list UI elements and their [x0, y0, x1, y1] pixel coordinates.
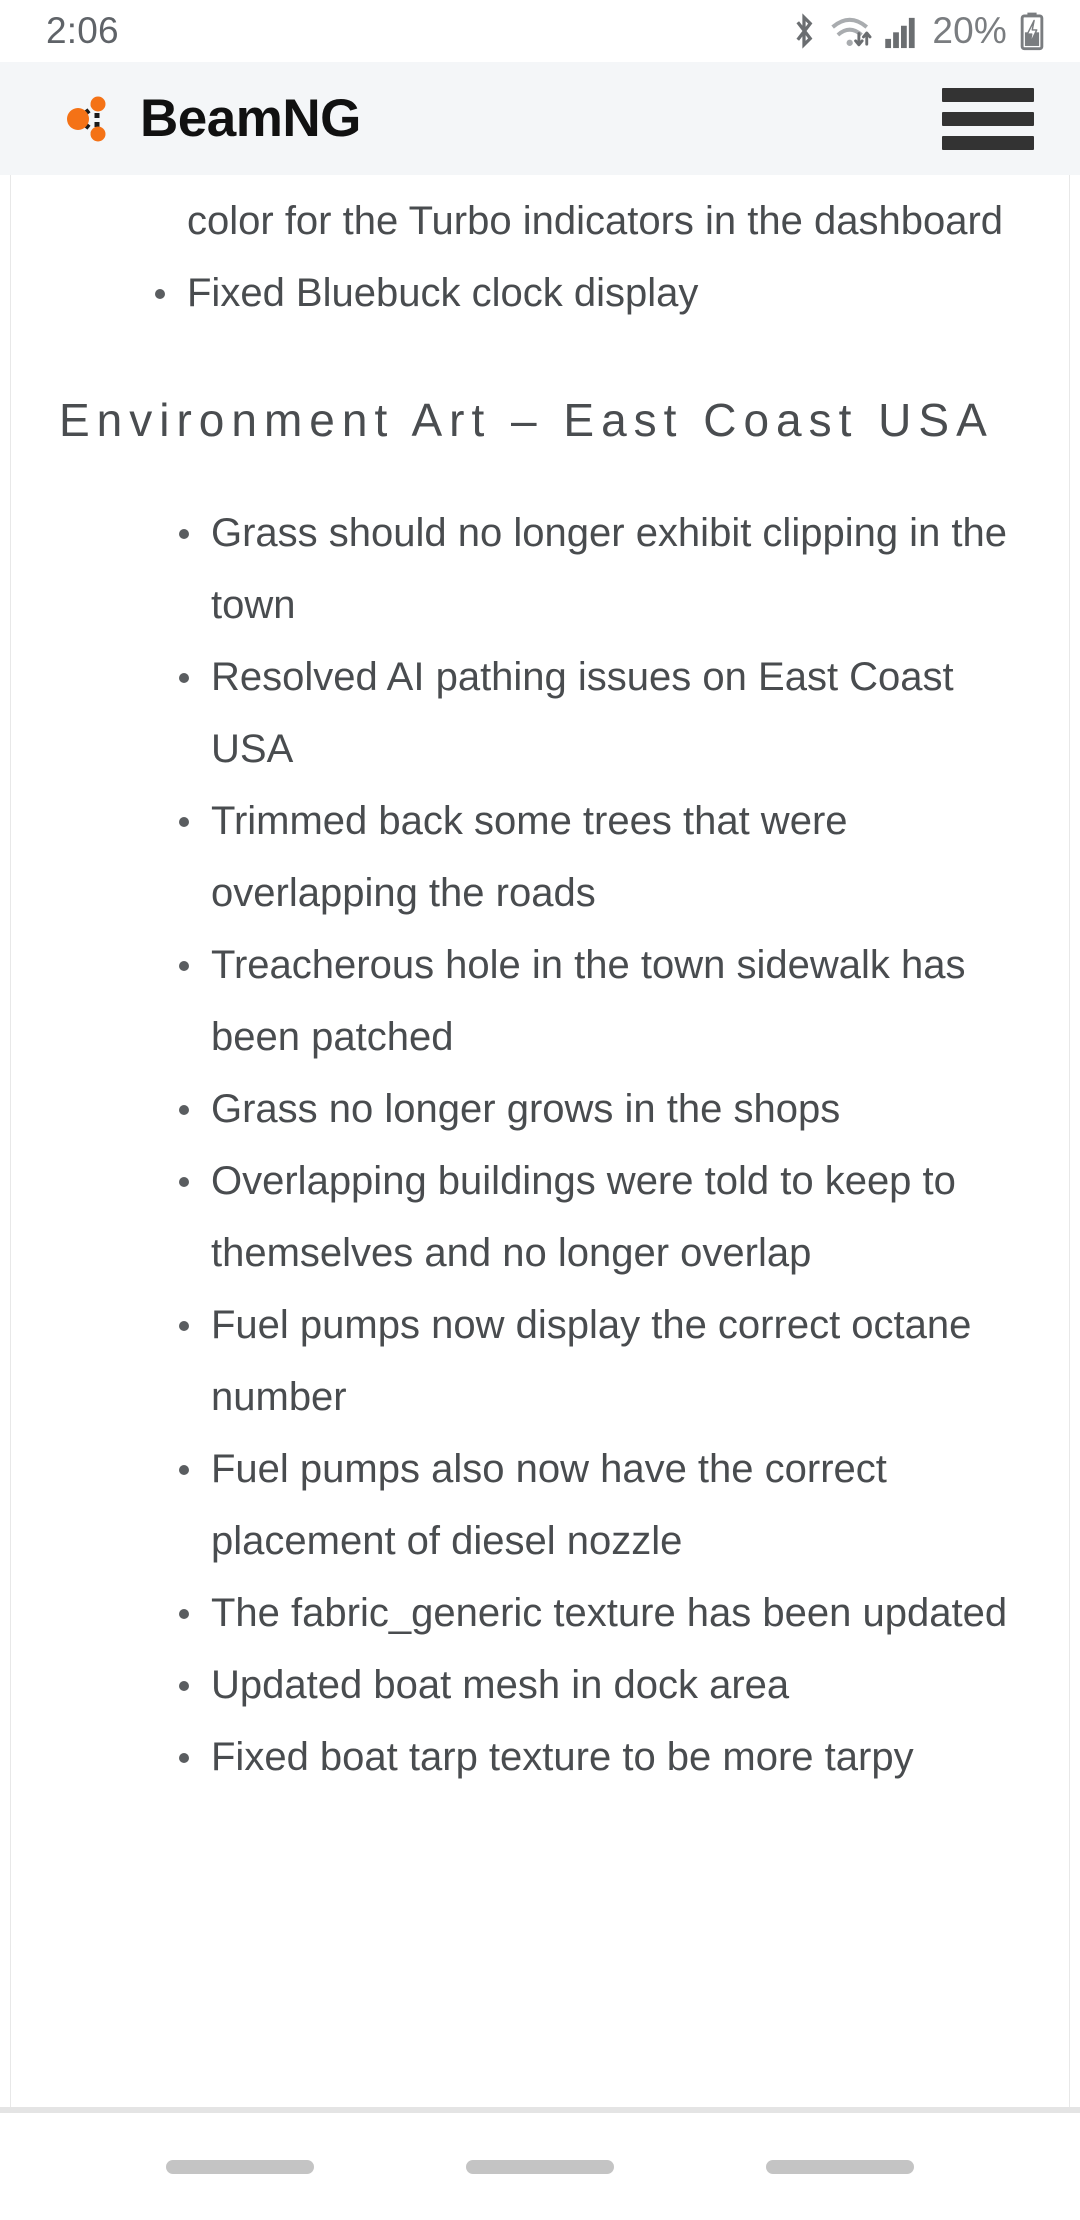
- list-item: Trimmed back some trees that were overla…: [171, 785, 1021, 929]
- battery-percent-label: 20%: [932, 10, 1007, 52]
- list-item: Grass should no longer exhibit clipping …: [171, 497, 1021, 641]
- list-item: Fuel pumps also now have the correct pla…: [171, 1433, 1021, 1577]
- status-bar-clock: 2:06: [46, 10, 119, 52]
- hamburger-bar-2: [942, 112, 1034, 126]
- back-gesture-pill[interactable]: [766, 2160, 914, 2174]
- beamng-node-logo-icon: [64, 90, 122, 148]
- cellular-signal-icon: [883, 10, 919, 52]
- article-card: Fixed ETK I Street Tuned (M) using the w…: [10, 175, 1070, 2220]
- hamburger-menu-icon[interactable]: [942, 88, 1034, 150]
- list-item: Fixed Bluebuck clock display: [147, 257, 1021, 329]
- recents-gesture-pill[interactable]: [166, 2160, 314, 2174]
- page-scroll-area[interactable]: Fixed ETK I Street Tuned (M) using the w…: [0, 175, 1080, 2220]
- status-bar-icons: 20%: [789, 10, 1046, 52]
- brand-link[interactable]: BeamNG: [64, 90, 361, 148]
- list-item: Overlapping buildings were told to keep …: [171, 1145, 1021, 1289]
- home-gesture-pill[interactable]: [466, 2160, 614, 2174]
- list-item: The fabric_generic texture has been upda…: [171, 1577, 1021, 1649]
- hamburger-bar-1: [942, 88, 1034, 102]
- changelog-top-list: Fixed ETK I Street Tuned (M) using the w…: [59, 175, 1021, 329]
- list-item: Resolved AI pathing issues on East Coast…: [171, 641, 1021, 785]
- list-item: Treacherous hole in the town sidewalk ha…: [171, 929, 1021, 1073]
- app-header: BeamNG: [0, 62, 1080, 175]
- list-item: Grass no longer grows in the shops: [171, 1073, 1021, 1145]
- status-bar: 2:06 20%: [0, 0, 1080, 62]
- battery-charging-icon: [1018, 10, 1046, 52]
- changelog-bullet-list: Grass should no longer exhibit clipping …: [59, 497, 1021, 1793]
- section-heading: Environment Art – East Coast USA: [59, 387, 1021, 453]
- bluetooth-icon: [789, 10, 819, 52]
- list-item: Updated boat mesh in dock area: [171, 1649, 1021, 1721]
- list-item: Fixed ETK I Street Tuned (M) using the w…: [147, 175, 1021, 257]
- list-item: Fuel pumps now display the correct octan…: [171, 1289, 1021, 1433]
- list-item: Fixed boat tarp texture to be more tarpy: [171, 1721, 1021, 1793]
- brand-name: BeamNG: [140, 92, 361, 145]
- system-navigation-bar: [0, 2107, 1080, 2220]
- hamburger-bar-3: [942, 136, 1034, 150]
- wifi-icon: [828, 10, 874, 52]
